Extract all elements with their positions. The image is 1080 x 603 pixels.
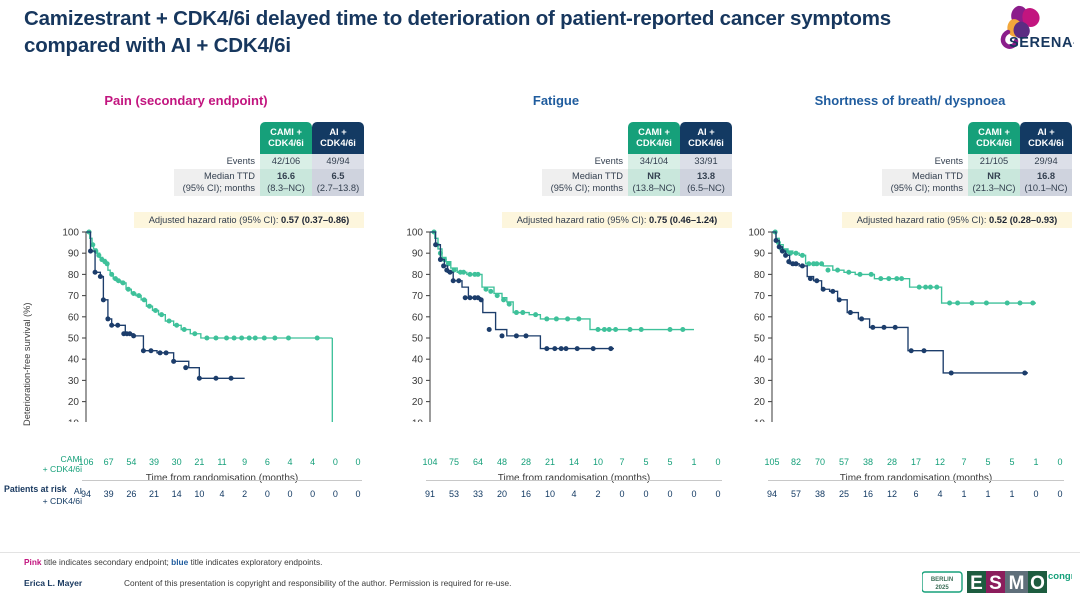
svg-text:20: 20 [412, 397, 424, 408]
risk-value-cami: 5 [985, 457, 990, 467]
risk-value-ai: 0 [265, 489, 270, 499]
censor-marker [520, 310, 525, 315]
footer-divider [0, 552, 1080, 553]
censor-marker [559, 346, 564, 351]
censor-marker [613, 327, 618, 332]
censor-marker [441, 263, 446, 268]
censor-marker [814, 278, 819, 283]
censor-marker [438, 257, 443, 262]
risk-value-cami: 5 [1009, 457, 1014, 467]
risk-value-ai: 12 [887, 489, 897, 499]
svg-text:SERENA-6: SERENA-6 [1009, 35, 1074, 51]
risk-value-cami: 0 [715, 457, 720, 467]
svg-text:90: 90 [754, 249, 766, 260]
censor-marker [109, 323, 114, 328]
risk-value-ai: 1 [985, 489, 990, 499]
km-curve-ai [430, 232, 614, 349]
censor-marker [109, 272, 114, 277]
censor-marker [596, 327, 601, 332]
censor-marker [917, 285, 922, 290]
svg-text:40: 40 [68, 355, 80, 366]
risk-value-ai: 0 [333, 489, 338, 499]
censor-marker [830, 289, 835, 294]
risk-table-divider [426, 480, 722, 481]
risk-value-ai: 21 [149, 489, 159, 499]
risk-value-ai: 1 [961, 489, 966, 499]
risk-value-ai: 14 [172, 489, 182, 499]
risk-value-ai: 33 [473, 489, 483, 499]
censor-marker [142, 297, 147, 302]
censor-marker [608, 346, 613, 351]
censor-marker [949, 370, 954, 375]
censor-marker [479, 297, 484, 302]
risk-value-ai: 38 [815, 489, 825, 499]
censor-marker [848, 310, 853, 315]
censor-marker [858, 272, 863, 277]
censor-marker [101, 297, 106, 302]
author-name: Erica L. Mayer [24, 578, 82, 588]
censor-marker [826, 268, 831, 273]
copyright-text: Content of this presentation is copyrigh… [124, 578, 511, 588]
censor-marker [247, 336, 252, 341]
censor-marker [147, 304, 152, 309]
risk-value-cami: 14 [569, 457, 579, 467]
censor-marker [115, 323, 120, 328]
svg-text:90: 90 [412, 249, 424, 260]
censor-marker [947, 301, 952, 306]
censor-marker [484, 287, 489, 292]
censor-marker [554, 316, 559, 321]
km-plot-fatigue: 0102030405060708090100036912151821242730… [372, 92, 740, 422]
risk-value-ai: 6 [913, 489, 918, 499]
risk-value-cami: 9 [242, 457, 247, 467]
censor-marker [501, 297, 506, 302]
censor-marker [131, 333, 136, 338]
censor-marker [835, 268, 840, 273]
svg-text:20: 20 [68, 397, 80, 408]
censor-marker [928, 285, 933, 290]
risk-value-ai: 0 [643, 489, 648, 499]
km-plot-dyspnoea: 0102030405060708090100036912151821242730… [740, 92, 1080, 422]
chart-panel-fatigue: FatigueCAMI +CDK4/6iAI +CDK4/6iEvents34/… [372, 92, 740, 492]
risk-value-cami: 1 [691, 457, 696, 467]
risk-value-ai: 10 [194, 489, 204, 499]
footnote: Pink title indicates secondary endpoint;… [24, 557, 322, 567]
censor-marker [794, 261, 799, 266]
svg-text:100: 100 [748, 228, 765, 239]
chart-panel-dyspnoea: Shortness of breath/ dyspnoeaCAMI +CDK4/… [740, 92, 1080, 492]
risk-value-ai: 91 [425, 489, 435, 499]
svg-text:50: 50 [754, 334, 766, 345]
svg-text:30: 30 [412, 376, 424, 387]
censor-marker [602, 327, 607, 332]
risk-value-cami: 0 [1057, 457, 1062, 467]
risk-value-cami: 28 [887, 457, 897, 467]
km-curve-cami [772, 232, 1036, 303]
censor-marker [821, 287, 826, 292]
svg-text:70: 70 [754, 291, 766, 302]
censor-marker [607, 327, 612, 332]
svg-text:70: 70 [412, 291, 424, 302]
risk-value-cami: 70 [815, 457, 825, 467]
censor-marker [153, 308, 158, 313]
censor-marker [837, 297, 842, 302]
footnote-pink-word: Pink [24, 557, 42, 567]
risk-value-ai: 94 [767, 489, 777, 499]
svg-text:10: 10 [754, 418, 766, 422]
censor-marker [88, 249, 93, 254]
svg-text:congress: congress [1048, 571, 1072, 582]
risk-value-cami: 6 [265, 457, 270, 467]
risk-value-ai: 4 [937, 489, 942, 499]
censor-marker [158, 350, 163, 355]
censor-marker [533, 312, 538, 317]
risk-value-ai: 20 [497, 489, 507, 499]
censor-marker [893, 325, 898, 330]
censor-marker [96, 253, 101, 258]
km-curve-ai [86, 232, 245, 378]
svg-text:60: 60 [68, 312, 80, 323]
censor-marker [882, 325, 887, 330]
risk-value-cami: 17 [911, 457, 921, 467]
risk-value-ai: 53 [449, 489, 459, 499]
risk-value-cami: 105 [764, 457, 779, 467]
censor-marker [1005, 301, 1010, 306]
svg-text:80: 80 [754, 270, 766, 281]
censor-marker [500, 333, 505, 338]
chart-panel-pain: Pain (secondary endpoint)CAMI +CDK4/6iAI… [0, 92, 372, 492]
risk-value-ai: 0 [619, 489, 624, 499]
risk-value-ai: 94 [81, 489, 91, 499]
risk-value-cami: 106 [78, 457, 93, 467]
censor-marker [197, 376, 202, 381]
risk-value-cami: 57 [839, 457, 849, 467]
censor-marker [213, 376, 218, 381]
censor-marker [167, 319, 172, 324]
risk-value-cami: 7 [619, 457, 624, 467]
censor-marker [461, 270, 466, 275]
risk-table-divider [82, 480, 362, 481]
svg-text:M: M [1009, 573, 1025, 594]
svg-text:60: 60 [754, 312, 766, 323]
censor-marker [105, 316, 110, 321]
risk-table-fatigue: 1047564482821141075510915333201610420000… [430, 454, 718, 512]
censor-marker [886, 276, 891, 281]
censor-marker [433, 242, 438, 247]
risk-value-cami: 39 [149, 457, 159, 467]
risk-value-ai: 0 [1033, 489, 1038, 499]
censor-marker [819, 261, 824, 266]
censor-marker [131, 291, 136, 296]
risk-value-cami: 4 [287, 457, 292, 467]
censor-marker [668, 327, 673, 332]
svg-text:O: O [1030, 573, 1045, 594]
censor-marker [984, 301, 989, 306]
risk-value-cami: 7 [961, 457, 966, 467]
risk-value-ai: 4 [219, 489, 224, 499]
censor-marker [315, 336, 320, 341]
risk-value-ai: 0 [1057, 489, 1062, 499]
censor-marker [232, 336, 237, 341]
censor-marker [253, 336, 258, 341]
risk-value-cami: 30 [172, 457, 182, 467]
censor-marker [628, 327, 633, 332]
risk-value-cami: 10 [593, 457, 603, 467]
serena-6-logo: SERENA-6 [978, 2, 1074, 52]
censor-marker [495, 293, 500, 298]
censor-marker [1022, 370, 1027, 375]
svg-text:10: 10 [412, 418, 424, 422]
risk-row-ai: 9457382516126411100 [772, 486, 1060, 512]
risk-value-cami: 38 [863, 457, 873, 467]
censor-marker [121, 280, 126, 285]
censor-marker [192, 331, 197, 336]
svg-text:S: S [989, 573, 1002, 594]
risk-value-cami: 5 [643, 457, 648, 467]
risk-value-cami: 75 [449, 457, 459, 467]
risk-value-cami: 0 [333, 457, 338, 467]
censor-marker [970, 301, 975, 306]
censor-marker [507, 302, 512, 307]
risk-value-ai: 2 [242, 489, 247, 499]
risk-value-ai: 0 [691, 489, 696, 499]
risk-value-ai: 10 [545, 489, 555, 499]
censor-marker [800, 253, 805, 258]
censor-marker [514, 310, 519, 315]
risk-value-cami: 4 [310, 457, 315, 467]
censor-marker [204, 336, 209, 341]
censor-marker [488, 289, 493, 294]
risk-value-ai: 0 [715, 489, 720, 499]
risk-value-ai: 16 [521, 489, 531, 499]
censor-marker [544, 346, 549, 351]
risk-value-cami: 82 [791, 457, 801, 467]
censor-marker [680, 327, 685, 332]
svg-text:80: 80 [412, 270, 424, 281]
censor-marker [182, 327, 187, 332]
censor-marker [922, 348, 927, 353]
censor-marker [780, 249, 785, 254]
censor-marker [451, 278, 456, 283]
censor-marker [164, 350, 169, 355]
risk-value-ai: 2 [595, 489, 600, 499]
censor-marker [116, 278, 121, 283]
svg-text:30: 30 [68, 376, 80, 387]
risk-row-cami: 1047564482821141075510 [430, 454, 718, 480]
risk-table-divider [768, 480, 1064, 481]
censor-marker [105, 261, 110, 266]
censor-marker [934, 285, 939, 290]
svg-text:10: 10 [68, 418, 80, 422]
risk-value-cami: 48 [497, 457, 507, 467]
censor-marker [141, 348, 146, 353]
censor-marker [524, 333, 529, 338]
svg-text:50: 50 [68, 334, 80, 345]
censor-marker [552, 346, 557, 351]
footnote-end: title indicates exploratory endpoints. [188, 557, 322, 567]
censor-marker [93, 270, 98, 275]
censor-marker [1030, 301, 1035, 306]
censor-marker [955, 301, 960, 306]
censor-marker [565, 316, 570, 321]
risk-row-label-cami: CAMI+ CDK4/6i [24, 455, 86, 475]
risk-value-cami: 104 [422, 457, 437, 467]
risk-value-cami: 28 [521, 457, 531, 467]
censor-marker [575, 346, 580, 351]
censor-marker [777, 244, 782, 249]
km-curve-cami [430, 232, 694, 330]
svg-text:90: 90 [68, 249, 80, 260]
censor-marker [899, 276, 904, 281]
censor-marker [783, 253, 788, 258]
censor-marker [894, 276, 899, 281]
censor-marker [846, 270, 851, 275]
risk-table-pain: CAMI+ CDK4/6i106675439302111964400AI+ CD… [86, 454, 358, 512]
censor-marker [859, 316, 864, 321]
censor-marker [869, 272, 874, 277]
risk-row-cami: 1058270573828171275510 [772, 454, 1060, 480]
censor-marker [213, 336, 218, 341]
risk-table-dyspnoea: 1058270573828171275510945738251612641110… [772, 454, 1060, 512]
censor-marker [544, 316, 549, 321]
censor-marker [148, 348, 153, 353]
risk-value-cami: 0 [355, 457, 360, 467]
censor-marker [183, 365, 188, 370]
censor-marker [272, 336, 277, 341]
censor-marker [448, 270, 453, 275]
risk-value-cami: 21 [545, 457, 555, 467]
svg-text:20: 20 [754, 397, 766, 408]
risk-value-cami: 21 [194, 457, 204, 467]
censor-marker [174, 323, 179, 328]
svg-text:100: 100 [406, 228, 423, 239]
svg-text:E: E [970, 573, 983, 594]
censor-marker [476, 272, 481, 277]
svg-text:60: 60 [412, 312, 424, 323]
censor-marker [591, 346, 596, 351]
esmo-congress-logo: BERLIN 2025 E S M O congress [922, 568, 1072, 598]
censor-marker [463, 295, 468, 300]
risk-value-ai: 4 [571, 489, 576, 499]
y-axis-label: Deterioration-free survival (%) [22, 303, 32, 426]
censor-marker [224, 336, 229, 341]
censor-marker [794, 251, 799, 256]
risk-value-ai: 0 [310, 489, 315, 499]
svg-text:2025: 2025 [935, 585, 949, 591]
censor-marker [639, 327, 644, 332]
svg-text:50: 50 [412, 334, 424, 345]
svg-text:BERLIN: BERLIN [931, 577, 953, 583]
censor-marker [286, 336, 291, 341]
risk-value-ai: 26 [126, 489, 136, 499]
censor-marker [878, 276, 883, 281]
censor-marker [576, 316, 581, 321]
risk-value-ai: 25 [839, 489, 849, 499]
risk-value-ai: 57 [791, 489, 801, 499]
km-plot-pain: 0102030405060708090100036912151821242730… [0, 92, 372, 422]
risk-value-cami: 5 [667, 457, 672, 467]
risk-value-cami: 54 [126, 457, 136, 467]
censor-marker [159, 312, 164, 317]
censor-marker [262, 336, 267, 341]
censor-marker [909, 348, 914, 353]
risk-value-cami: 64 [473, 457, 483, 467]
svg-text:30: 30 [754, 376, 766, 387]
censor-marker [808, 276, 813, 281]
risk-value-cami: 12 [935, 457, 945, 467]
risk-value-cami: 1 [1033, 457, 1038, 467]
risk-value-ai: 39 [104, 489, 114, 499]
risk-value-cami: 11 [217, 457, 226, 467]
svg-text:100: 100 [62, 228, 79, 239]
censor-marker [564, 346, 569, 351]
censor-marker [136, 293, 141, 298]
risk-value-ai: 16 [863, 489, 873, 499]
risk-value-ai: 0 [287, 489, 292, 499]
censor-marker [774, 238, 779, 243]
censor-marker [98, 274, 103, 279]
risk-row-cami: CAMI+ CDK4/6i106675439302111964400 [86, 454, 358, 480]
risk-value-ai: 0 [355, 489, 360, 499]
risk-row-ai: AI+ CDK4/6i9439262114104200000 [86, 486, 358, 512]
censor-marker [514, 333, 519, 338]
censor-marker [800, 263, 805, 268]
censor-marker [171, 359, 176, 364]
censor-marker [126, 287, 131, 292]
risk-value-ai: 1 [1009, 489, 1014, 499]
censor-marker [487, 327, 492, 332]
censor-marker [239, 336, 244, 341]
censor-marker [1018, 301, 1023, 306]
censor-marker [923, 285, 928, 290]
svg-text:70: 70 [68, 291, 80, 302]
footnote-blue-word: blue [171, 557, 188, 567]
svg-text:80: 80 [68, 270, 80, 281]
risk-value-ai: 0 [667, 489, 672, 499]
patients-at-risk-label: Patients at risk [4, 484, 67, 494]
page-title: Camizestrant + CDK4/6i delayed time to d… [24, 6, 954, 59]
risk-row-ai: 9153332016104200000 [430, 486, 718, 512]
censor-marker [468, 295, 473, 300]
svg-text:40: 40 [412, 355, 424, 366]
risk-value-cami: 67 [104, 457, 114, 467]
censor-marker [468, 272, 473, 277]
censor-marker [456, 278, 461, 283]
censor-marker [870, 325, 875, 330]
svg-text:40: 40 [754, 355, 766, 366]
censor-marker [814, 261, 819, 266]
footnote-mid: title indicates secondary endpoint; [42, 557, 172, 567]
censor-marker [229, 376, 234, 381]
